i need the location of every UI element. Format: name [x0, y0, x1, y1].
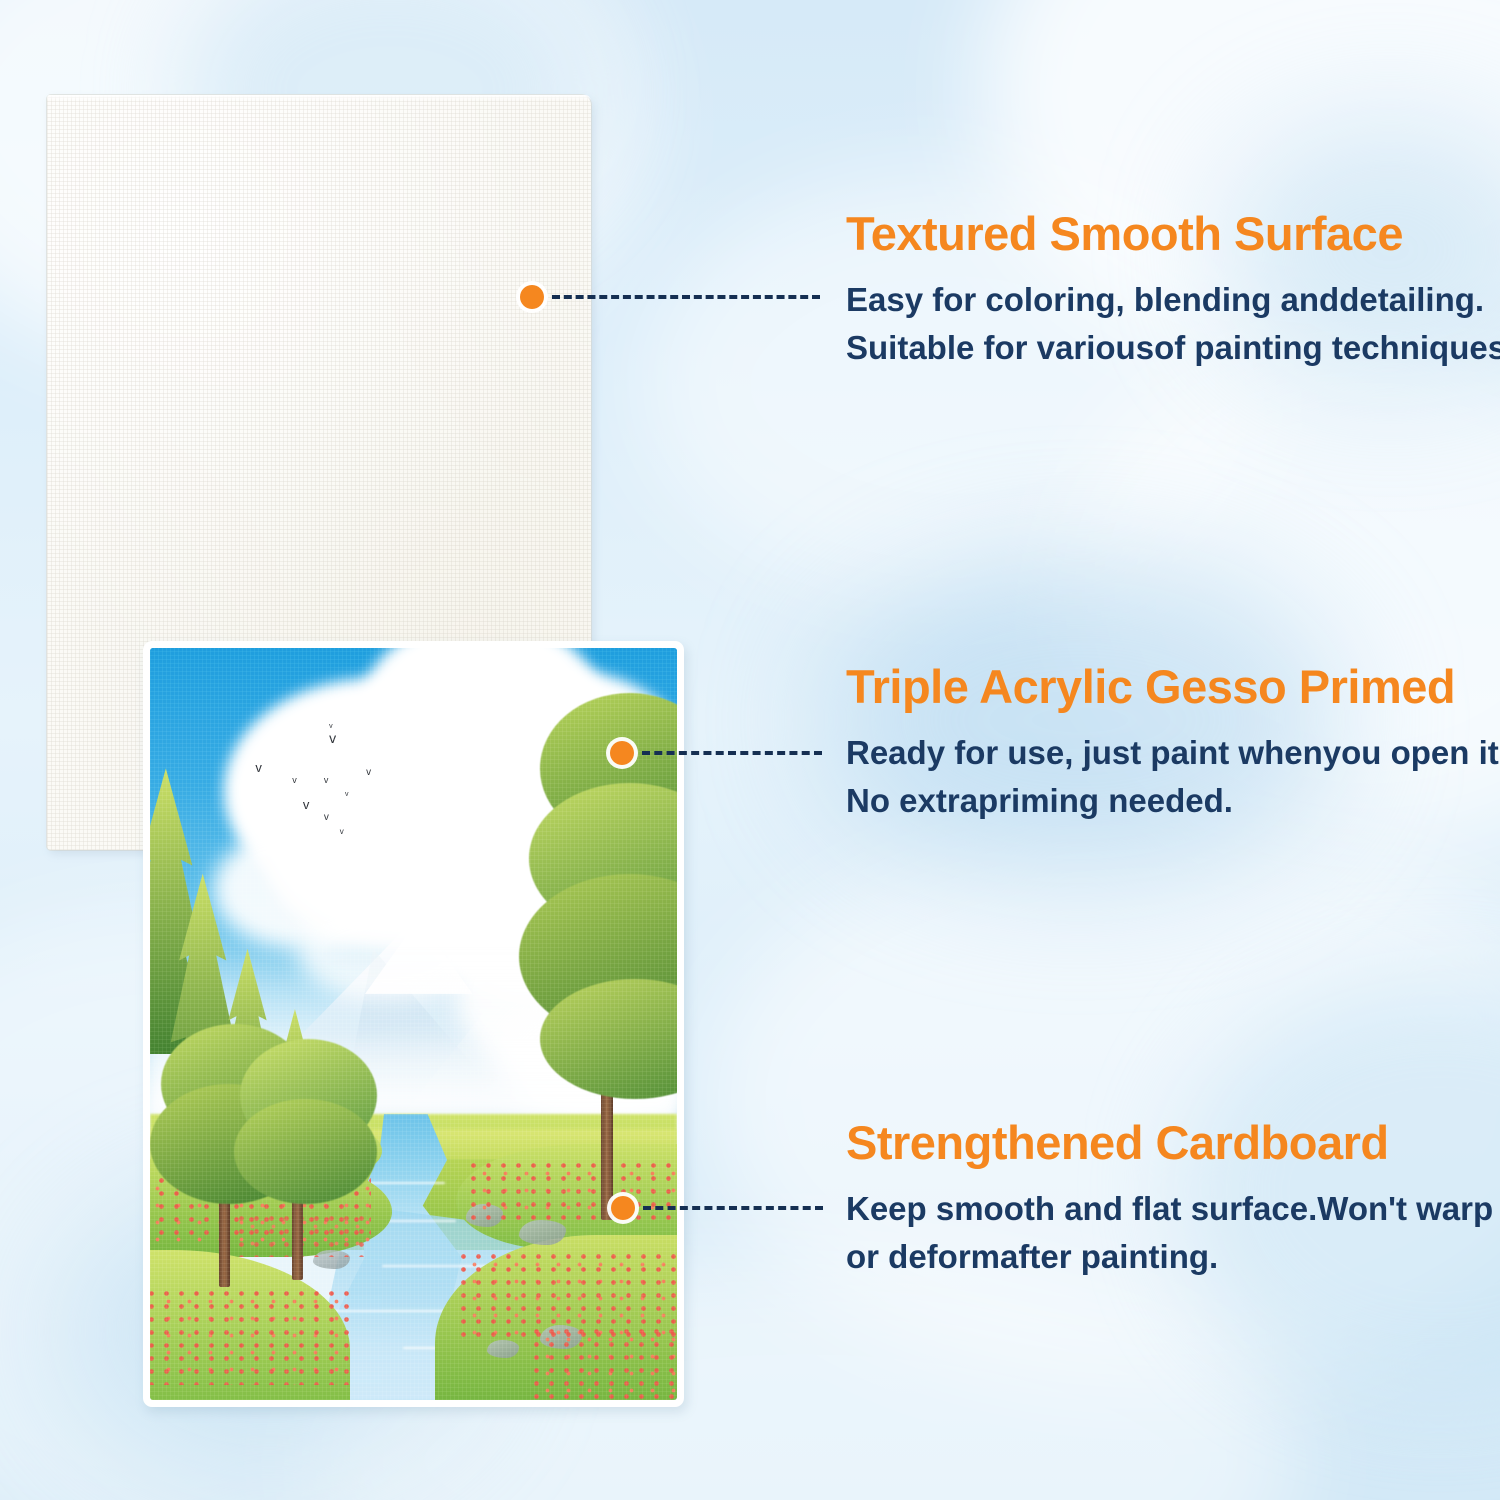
bird-icon: v — [292, 776, 297, 785]
callout-title: Strengthened Cardboard — [846, 1118, 1493, 1167]
callout-body-line: Keep smooth and flat surface.Won't warp — [846, 1185, 1493, 1233]
dashed-leader-line — [643, 1206, 823, 1210]
bird-icon: v — [255, 761, 262, 774]
callout-dot-icon — [610, 741, 634, 765]
tree-foliage — [234, 1099, 376, 1204]
callout-dot-icon — [520, 285, 544, 309]
connector-line-2 — [610, 741, 822, 765]
canvas-top-edge — [47, 95, 591, 101]
bird-icon: v — [366, 768, 371, 778]
callout-triple-acrylic-gesso-primed: Triple Acrylic Gesso Primed Ready for us… — [846, 662, 1500, 825]
connector-line-3 — [611, 1196, 823, 1220]
callout-body-line: or deformafter painting. — [846, 1233, 1493, 1281]
bird-icon: v — [324, 776, 329, 785]
bird-icon: v — [340, 828, 344, 836]
painted-canvas-panel: v v v v v v v v v v — [143, 641, 684, 1407]
rock — [519, 1220, 566, 1246]
callout-body: Ready for use, just paint whenyou open i… — [846, 729, 1500, 825]
dashed-leader-line — [552, 295, 820, 299]
callout-textured-smooth-surface: Textured Smooth Surface Easy for colorin… — [846, 209, 1500, 372]
callout-body-line: No extrapriming needed. — [846, 777, 1500, 825]
callout-body-line: Easy for coloring, blending anddetailing… — [846, 276, 1500, 324]
callout-title: Textured Smooth Surface — [846, 209, 1500, 258]
bird-icon: v — [329, 731, 336, 745]
callout-body-line: Suitable for variousof painting techniqu… — [846, 324, 1500, 372]
rock — [487, 1340, 519, 1358]
bird-icon: v — [329, 723, 333, 730]
bird-icon: v — [303, 798, 310, 811]
flower-patch — [150, 1287, 350, 1385]
callout-dot-icon — [611, 1196, 635, 1220]
landscape-painting: v v v v v v v v v v — [150, 648, 677, 1400]
callout-body-line: Ready for use, just paint whenyou open i… — [846, 729, 1500, 777]
callout-body: Keep smooth and flat surface.Won't warp … — [846, 1185, 1493, 1281]
dashed-leader-line — [642, 751, 822, 755]
bird-icon: v — [324, 813, 329, 823]
flower-patch — [529, 1325, 677, 1400]
callout-body: Easy for coloring, blending anddetailing… — [846, 276, 1500, 372]
callout-title: Triple Acrylic Gesso Primed — [846, 662, 1500, 711]
connector-line-1 — [520, 285, 820, 309]
bird-icon: v — [345, 791, 349, 798]
callout-strengthened-cardboard: Strengthened Cardboard Keep smooth and f… — [846, 1118, 1493, 1281]
infographic-stage: v v v v v v v v v v — [0, 0, 1500, 1500]
